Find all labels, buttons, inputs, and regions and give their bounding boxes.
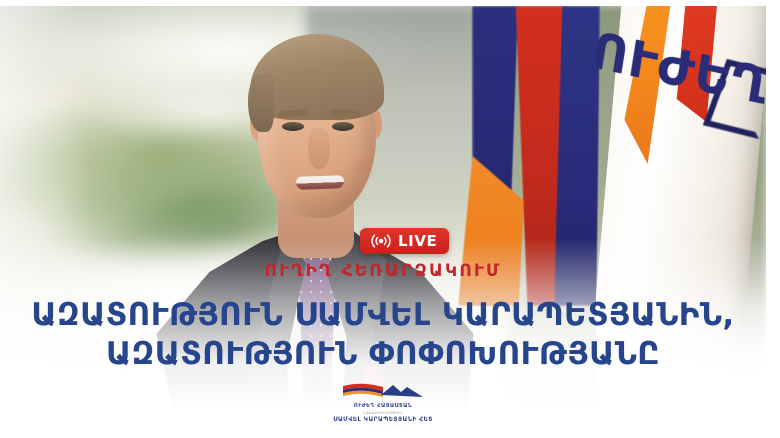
mouth-smiling (296, 175, 344, 190)
eye-left (282, 122, 304, 131)
hair-sideburn (248, 74, 274, 132)
live-badge[interactable]: LIVE (360, 228, 449, 254)
cheek (346, 152, 380, 186)
armenian-tricolor-mountain-emblem (337, 382, 429, 401)
live-broadcast-icon (370, 233, 392, 249)
nose (308, 128, 330, 170)
logo-line-3: ՍԱՄՎԵԼ ԿԱՐԱՊԵՏՅԱՆԻ ՀԵՏ (333, 417, 433, 424)
headline-line-1: ԱԶԱՏՈՒԹՅՈՒՆ ՍԱՄՎԵԼ ԿԱՐԱՊԵՏՅԱՆԻՆ, (0, 296, 766, 335)
headline: ԱԶԱՏՈՒԹՅՈՒՆ ՍԱՄՎԵԼ ԿԱՐԱՊԵՏՅԱՆԻՆ, ԱԶԱՏՈՒԹ… (0, 296, 766, 374)
logo-line-2: ՆԱԽԱՁԵՌՆՈՒԹՅՈՒՆ (363, 412, 403, 416)
eye-right (332, 122, 354, 131)
live-label: LIVE (398, 234, 437, 249)
broadcast-graphic: ՈՒԺԵՂ ՀԱՅԱՍՏԱՆ (0, 0, 780, 438)
organization-logo[interactable]: ՈՒԺԵՂ ՀԱՅԱՍՏԱՆ ՆԱԽԱՁԵՌՆՈՒԹՅՈՒՆ ՍԱՄՎԵԼ ԿԱ… (0, 382, 766, 425)
broadcast-subtitle: ՈՒՂԻՂ ՀԵՌԱՐՁԱԿՈՒՄ (0, 261, 766, 281)
chin (286, 192, 352, 218)
logo-line-1: ՈՒԺԵՂ ՀԱՅԱՍՏԱՆ (354, 403, 412, 410)
headline-line-2: ԱԶԱՏՈՒԹՅՈՒՆ ՓՈՓՈԽՈՒԹՅԱՆԸ (0, 335, 766, 374)
